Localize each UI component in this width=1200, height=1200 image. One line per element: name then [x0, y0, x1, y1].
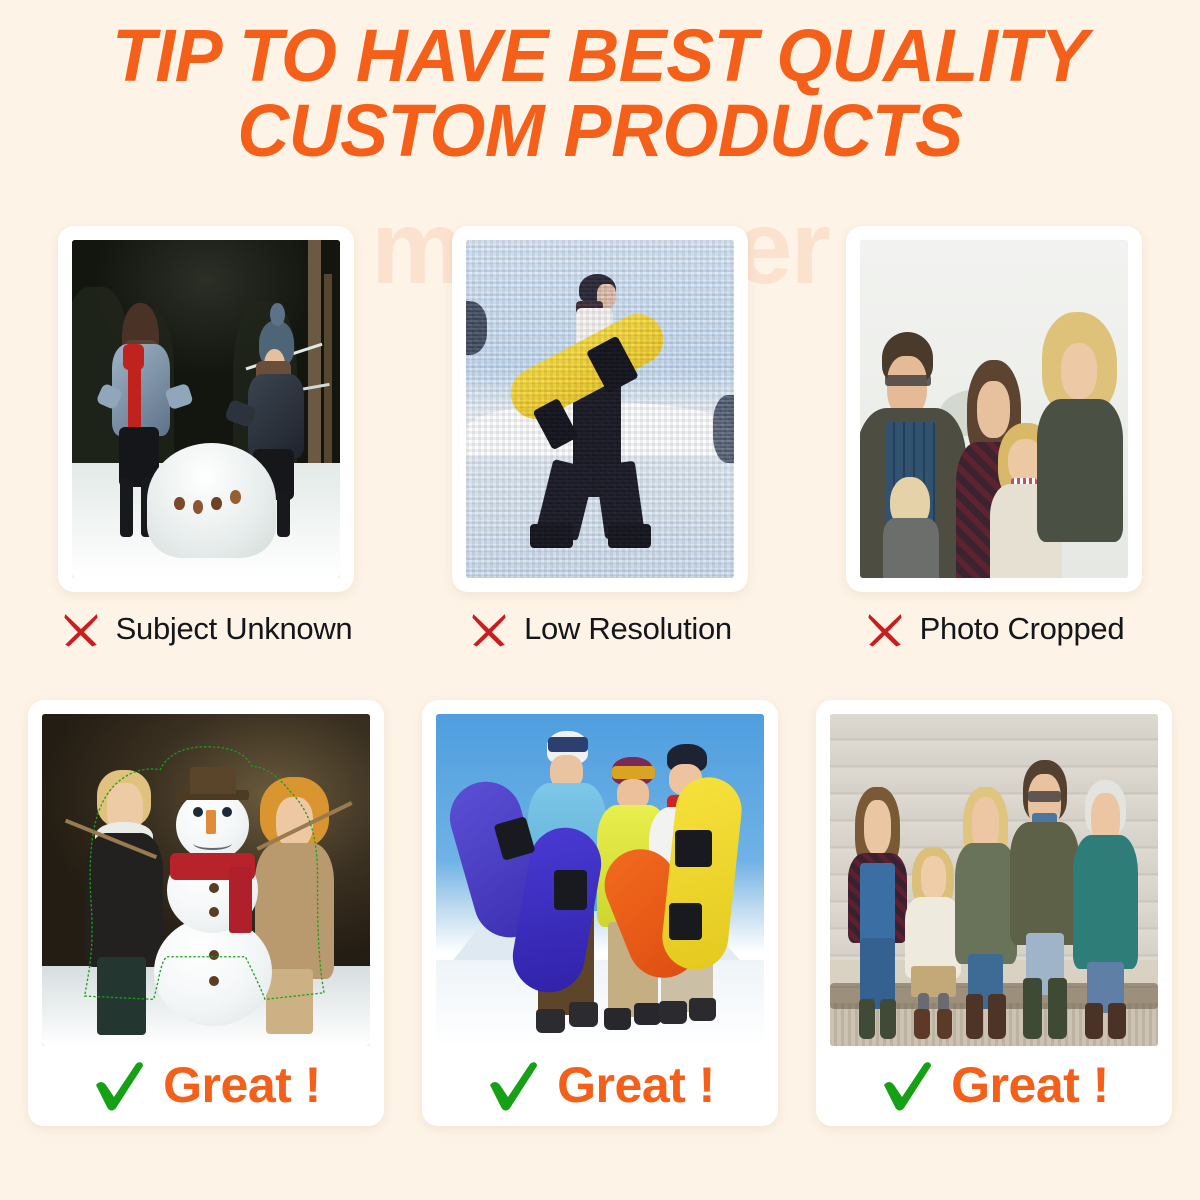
photo-great-snowboarders	[436, 714, 764, 1046]
row-good-examples: Great !	[0, 700, 1200, 1126]
label-great-snowman: Great !	[42, 1056, 370, 1120]
page-title-line-1: TIP TO HAVE BEST QUALITY	[18, 18, 1182, 93]
page-title-line-2: CUSTOM PRODUCTS	[18, 93, 1182, 168]
check-mark-icon	[485, 1057, 541, 1113]
photo-low-resolution	[466, 240, 734, 578]
photo-card-subject-unknown	[58, 226, 354, 592]
example-cell-subject-unknown: Subject Unknown	[22, 226, 390, 650]
label-great-family: Great !	[830, 1056, 1158, 1120]
examples-grid: Subject Unknown	[0, 226, 1200, 1126]
example-cell-low-resolution: Low Resolution	[416, 226, 784, 650]
label-photo-cropped: Photo Cropped	[810, 608, 1178, 650]
selection-outline	[42, 714, 370, 1042]
check-mark-icon	[91, 1057, 147, 1113]
label-low-resolution: Low Resolution	[416, 608, 784, 650]
photo-great-family	[830, 714, 1158, 1046]
example-cell-great-snowboarders: Great !	[416, 700, 784, 1126]
example-cell-great-snowman: Great !	[22, 700, 390, 1126]
label-great-snowboarders: Great !	[436, 1056, 764, 1120]
label-text: Great !	[557, 1056, 715, 1114]
photo-photo-cropped	[860, 240, 1128, 578]
row-bad-examples: Subject Unknown	[0, 226, 1200, 650]
page-title: TIP TO HAVE BEST QUALITY CUSTOM PRODUCTS	[18, 18, 1182, 169]
photo-card-low-resolution	[452, 226, 748, 592]
photo-card-great-snowman: Great !	[28, 700, 384, 1126]
photo-card-photo-cropped	[846, 226, 1142, 592]
label-subject-unknown: Subject Unknown	[22, 608, 390, 650]
label-text: Subject Unknown	[116, 611, 353, 647]
example-cell-great-family: Great !	[810, 700, 1178, 1126]
example-cell-photo-cropped: Photo Cropped	[810, 226, 1178, 650]
label-text: Great !	[163, 1056, 321, 1114]
photo-subject-unknown	[72, 240, 340, 578]
photo-card-great-family: Great !	[816, 700, 1172, 1126]
label-text: Low Resolution	[524, 611, 732, 647]
x-mark-icon	[864, 608, 906, 650]
check-mark-icon	[879, 1057, 935, 1113]
x-mark-icon	[60, 608, 102, 650]
photo-great-snowman	[42, 714, 370, 1046]
label-text: Photo Cropped	[920, 611, 1125, 647]
photo-card-great-snowboarders: Great !	[422, 700, 778, 1126]
label-text: Great !	[951, 1056, 1109, 1114]
x-mark-icon	[468, 608, 510, 650]
